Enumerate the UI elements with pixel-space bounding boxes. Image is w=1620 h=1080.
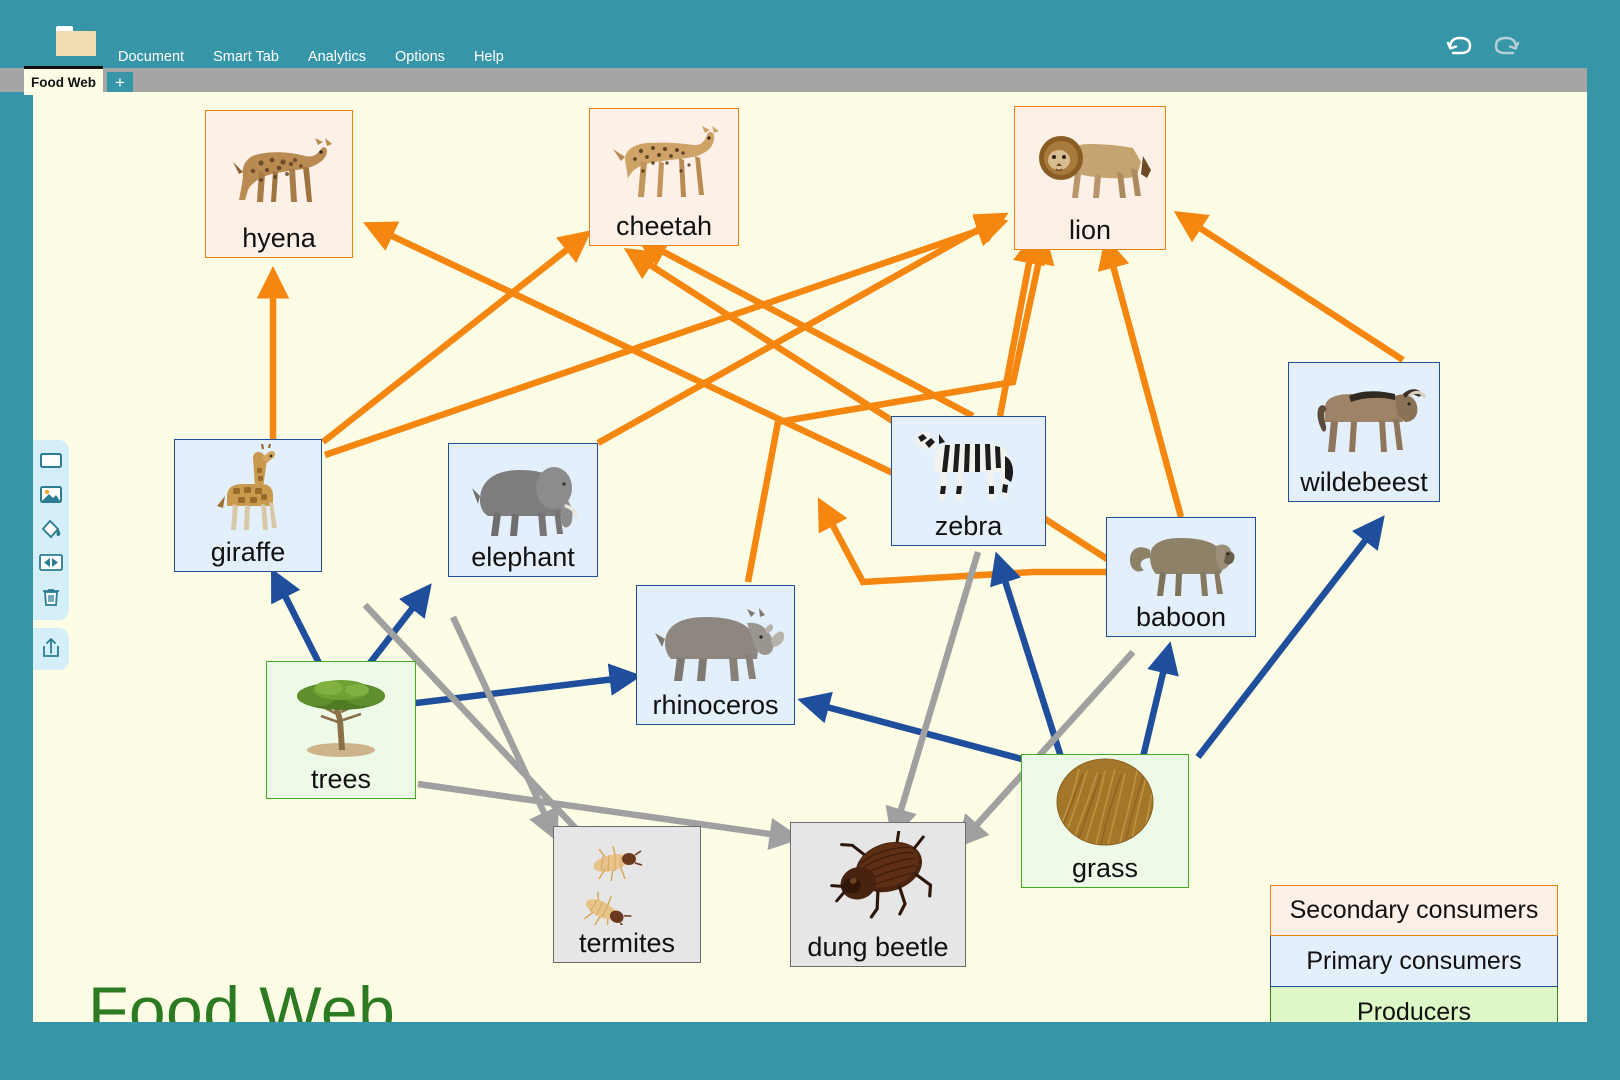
node-trees[interactable]: trees — [266, 661, 416, 799]
node-wildebeest[interactable]: wildebeest — [1288, 362, 1440, 502]
tool-rail-secondary — [33, 628, 69, 670]
page-title: Food Web — [88, 972, 395, 1022]
hyena-image — [206, 111, 352, 225]
termites-image — [554, 827, 700, 930]
node-label: trees — [311, 766, 371, 798]
node-elephant[interactable]: elephant — [448, 443, 598, 577]
node-label: termites — [579, 930, 675, 962]
node-hyena[interactable]: hyena — [205, 110, 353, 258]
node-label: baboon — [1136, 604, 1226, 636]
node-termites[interactable]: termites — [553, 826, 701, 963]
node-rhinoceros[interactable]: rhinoceros — [636, 585, 795, 725]
node-label: hyena — [242, 225, 316, 257]
titlebar: Document Smart Tab Analytics Options Hel… — [0, 0, 1620, 70]
legend-row-primary-consumers[interactable]: Primary consumers — [1270, 936, 1558, 987]
undo-icon[interactable] — [1440, 28, 1478, 60]
tab-strip — [0, 68, 1587, 92]
tab-food-web[interactable]: Food Web — [24, 66, 103, 95]
cheetah-image — [590, 109, 738, 213]
node-label: elephant — [471, 544, 575, 576]
menu-item-help[interactable]: Help — [474, 49, 521, 65]
menu-item-document[interactable]: Document — [118, 49, 201, 65]
app-window: Document Smart Tab Analytics Options Hel… — [0, 0, 1620, 1080]
trees-image — [267, 662, 415, 766]
legend-row-producers[interactable]: Producers — [1270, 987, 1558, 1022]
add-tab-button[interactable]: + — [107, 72, 133, 92]
dung-beetle-image — [791, 823, 965, 934]
fill-bucket-icon[interactable] — [38, 516, 64, 542]
diagram-canvas[interactable]: Food Web — [33, 92, 1587, 1022]
lion-image — [1015, 107, 1165, 217]
trash-icon[interactable] — [38, 584, 64, 610]
redo-icon[interactable] — [1488, 28, 1526, 60]
wildebeest-image — [1289, 363, 1439, 469]
legend: Secondary consumers Primary consumers Pr… — [1270, 885, 1558, 1022]
menu-item-analytics[interactable]: Analytics — [308, 49, 383, 65]
undo-redo-group — [1440, 28, 1530, 60]
menubar: Document Smart Tab Analytics Options Hel… — [118, 46, 533, 68]
baboon-image — [1107, 518, 1255, 604]
node-label: cheetah — [616, 213, 712, 245]
node-giraffe[interactable]: giraffe — [174, 439, 322, 572]
folder-icon — [56, 26, 96, 56]
node-label: giraffe — [211, 539, 286, 571]
rectangle-shape-icon[interactable] — [38, 448, 64, 474]
node-lion[interactable]: lion — [1014, 106, 1166, 250]
grass-image — [1022, 755, 1188, 855]
menu-item-smart-tab[interactable]: Smart Tab — [213, 49, 296, 65]
node-dung-beetle[interactable]: dung beetle — [790, 822, 966, 967]
legend-row-secondary-consumers[interactable]: Secondary consumers — [1270, 885, 1558, 936]
node-label: rhinoceros — [652, 692, 778, 724]
node-label: grass — [1072, 855, 1138, 887]
tool-rail — [33, 440, 69, 620]
giraffe-image — [175, 440, 321, 539]
zebra-image — [892, 417, 1045, 513]
share-export-icon[interactable] — [38, 635, 64, 661]
node-label: lion — [1069, 217, 1111, 249]
menu-item-options[interactable]: Options — [395, 49, 462, 65]
node-label: zebra — [935, 513, 1003, 545]
node-label: wildebeest — [1300, 469, 1428, 501]
node-baboon[interactable]: baboon — [1106, 517, 1256, 637]
flip-horizontal-icon[interactable] — [38, 550, 64, 576]
image-icon[interactable] — [38, 482, 64, 508]
node-zebra[interactable]: zebra — [891, 416, 1046, 546]
node-cheetah[interactable]: cheetah — [589, 108, 739, 246]
rhinoceros-image — [637, 586, 794, 692]
elephant-image — [449, 444, 597, 544]
node-grass[interactable]: grass — [1021, 754, 1189, 888]
node-label: dung beetle — [807, 934, 948, 966]
